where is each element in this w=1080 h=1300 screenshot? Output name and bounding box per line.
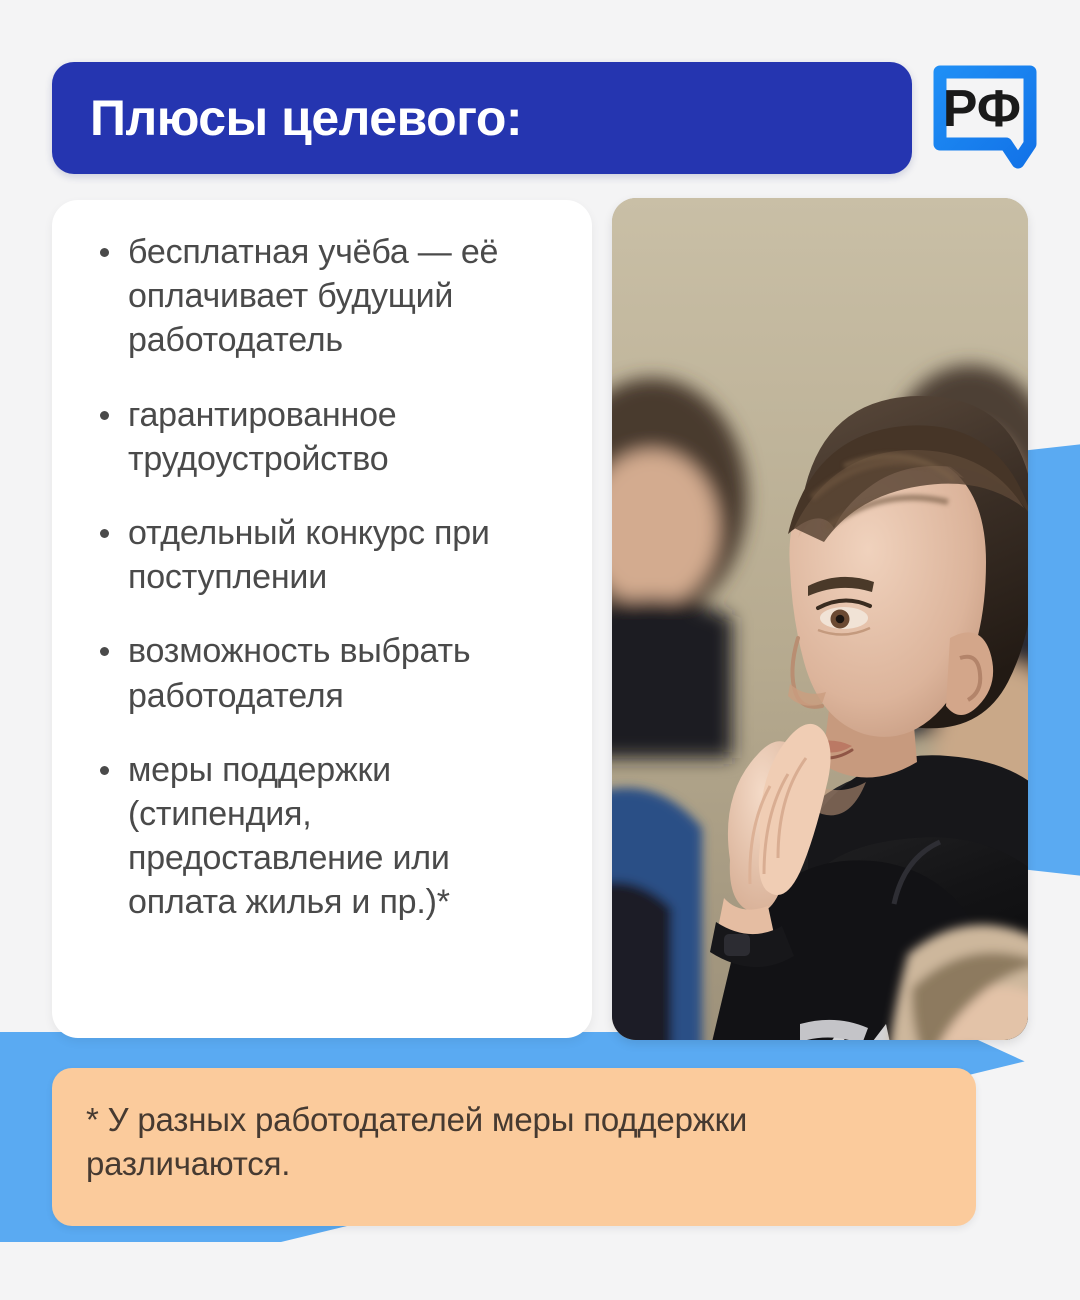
infographic-canvas: Плюсы целевого: РФ бесплатная учёба — её… <box>0 0 1080 1300</box>
list-item: отдельный конкурс при поступлении <box>78 511 566 599</box>
list-item: гарантированное трудоустройство <box>78 393 566 481</box>
list-item-label: меры поддержки (стипендия, предоставлени… <box>128 751 450 922</box>
explain-rf-logo: РФ <box>926 58 1050 174</box>
list-item-label: отдельный конкурс при поступлении <box>128 514 490 596</box>
bullet-dot-icon <box>100 529 109 538</box>
page-title: Плюсы целевого: <box>90 89 522 147</box>
bullet-dot-icon <box>100 248 109 257</box>
benefits-card: бесплатная учёба — её оплачивает будущий… <box>52 200 592 1038</box>
footnote-card: * У разных работодателей меры поддержки … <box>52 1068 976 1226</box>
bullet-dot-icon <box>100 766 109 775</box>
bullet-dot-icon <box>100 411 109 420</box>
list-item-label: гарантированное трудоустройство <box>128 396 397 478</box>
list-item: меры поддержки (стипендия, предоставлени… <box>78 748 566 925</box>
bullet-dot-icon <box>100 647 109 656</box>
list-item-label: возможность выбрать работодателя <box>128 632 470 714</box>
list-item-label: бесплатная учёба — её оплачивает будущий… <box>128 233 498 359</box>
footnote-text: * У разных работодателей меры поддержки … <box>86 1098 942 1186</box>
list-item: бесплатная учёба — её оплачивает будущий… <box>78 230 566 363</box>
logo-text: РФ <box>943 80 1021 138</box>
list-item: возможность выбрать работодателя <box>78 629 566 717</box>
students-lecture-photo <box>612 198 1028 1040</box>
benefits-list: бесплатная учёба — её оплачивает будущий… <box>78 230 566 924</box>
header-bar: Плюсы целевого: <box>52 62 912 174</box>
